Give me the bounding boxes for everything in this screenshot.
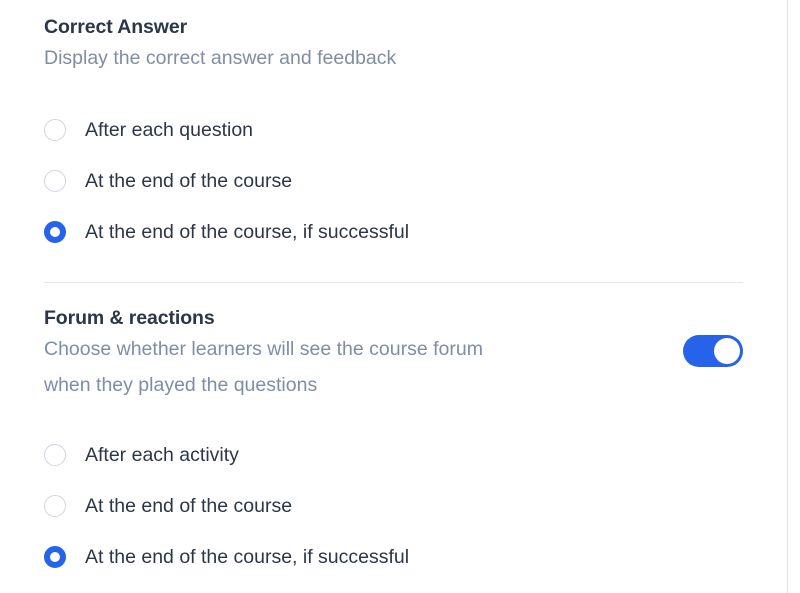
settings-panel: Correct Answer Display the correct answe… bbox=[0, 0, 788, 593]
section-title-forum-reactions: Forum & reactions bbox=[44, 305, 483, 331]
radio-option-end-of-course-if-successful[interactable]: At the end of the course, if successful bbox=[44, 531, 743, 582]
radio-circle-icon[interactable] bbox=[44, 119, 66, 141]
section-header: Correct Answer Display the correct answe… bbox=[44, 14, 743, 76]
radio-option-after-each-question[interactable]: After each question bbox=[44, 104, 743, 155]
radio-option-end-of-course-if-successful[interactable]: At the end of the course, if successful bbox=[44, 206, 743, 257]
radio-label: At the end of the course bbox=[85, 494, 292, 518]
radio-option-end-of-course[interactable]: At the end of the course bbox=[44, 480, 743, 531]
subtitle-line-1: Choose whether learners will see the cou… bbox=[44, 338, 483, 360]
toggle-cell bbox=[683, 305, 743, 367]
radio-circle-icon[interactable] bbox=[44, 444, 66, 466]
radio-label: At the end of the course, if successful bbox=[85, 545, 409, 569]
section-header-text: Correct Answer Display the correct answe… bbox=[44, 14, 396, 76]
toggle-knob bbox=[714, 338, 740, 364]
section-subtitle-forum-reactions: Choose whether learners will see the cou… bbox=[44, 331, 483, 403]
section-forum-reactions: Forum & reactions Choose whether learner… bbox=[0, 283, 787, 582]
subtitle-line-2: when they played the questions bbox=[44, 374, 317, 396]
radio-label: After each question bbox=[85, 118, 253, 142]
radio-circle-selected-icon[interactable] bbox=[44, 221, 66, 243]
radio-option-end-of-course[interactable]: At the end of the course bbox=[44, 155, 743, 206]
section-header: Forum & reactions Choose whether learner… bbox=[44, 305, 743, 403]
section-title-correct-answer: Correct Answer bbox=[44, 14, 396, 40]
radio-group-forum-reactions[interactable]: After each activity At the end of the co… bbox=[44, 429, 743, 582]
radio-circle-icon[interactable] bbox=[44, 495, 66, 517]
radio-circle-icon[interactable] bbox=[44, 170, 66, 192]
radio-group-correct-answer[interactable]: After each question At the end of the co… bbox=[44, 104, 743, 257]
radio-label: At the end of the course, if successful bbox=[85, 220, 409, 244]
section-subtitle-correct-answer: Display the correct answer and feedback bbox=[44, 40, 396, 76]
section-correct-answer: Correct Answer Display the correct answe… bbox=[0, 0, 787, 257]
forum-toggle-switch[interactable] bbox=[683, 335, 743, 367]
section-header-text: Forum & reactions Choose whether learner… bbox=[44, 305, 483, 403]
radio-label: At the end of the course bbox=[85, 169, 292, 193]
radio-label: After each activity bbox=[85, 443, 239, 467]
radio-option-after-each-activity[interactable]: After each activity bbox=[44, 429, 743, 480]
radio-circle-selected-icon[interactable] bbox=[44, 546, 66, 568]
